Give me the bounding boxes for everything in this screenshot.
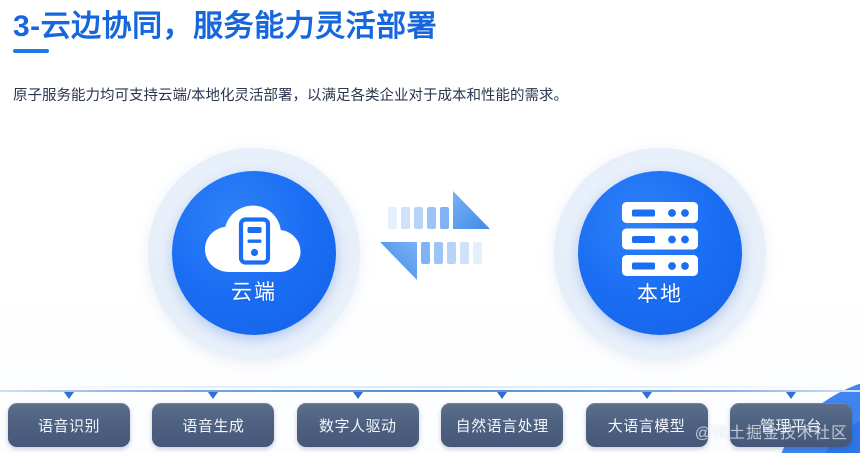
bidirectional-arrows-icon bbox=[374, 180, 496, 295]
tag-chip[interactable]: 语音生成 bbox=[152, 403, 274, 447]
tag-item-2[interactable]: 数字人驱动 bbox=[297, 392, 419, 450]
rack-server-icon bbox=[619, 200, 701, 278]
diagram-node-cloud[interactable]: 云端 bbox=[140, 140, 368, 368]
cloud-node-disc: 云端 bbox=[172, 171, 336, 335]
page-subtitle: 原子服务能力均可支持云端/本地化灵活部署，以满足各类企业对于成本和性能的需求。 bbox=[13, 85, 568, 107]
tag-chip[interactable]: 自然语言处理 bbox=[441, 403, 563, 447]
tag-item-4[interactable]: 大语言模型 bbox=[586, 392, 708, 450]
tag-item-0[interactable]: 语音识别 bbox=[8, 392, 130, 450]
tag-label: 语音生成 bbox=[182, 415, 244, 436]
local-node-label: 本地 bbox=[637, 283, 683, 307]
tag-label: 语音识别 bbox=[38, 415, 100, 436]
tag-label: 数字人驱动 bbox=[319, 415, 397, 436]
pointer-triangle-icon bbox=[353, 392, 363, 399]
pointer-triangle-icon bbox=[64, 392, 74, 399]
title-underline-accent bbox=[13, 49, 49, 53]
page-title: 3-云边协同，服务能力灵活部署 bbox=[13, 7, 437, 47]
tag-chip[interactable]: 语音识别 bbox=[8, 403, 130, 447]
tag-label: 大语言模型 bbox=[608, 415, 686, 436]
cloud-node-label: 云端 bbox=[231, 281, 277, 305]
tag-chip[interactable]: 大语言模型 bbox=[586, 403, 708, 447]
tag-item-5[interactable]: 管理平台 bbox=[730, 392, 852, 450]
rail-soft-line bbox=[0, 386, 860, 388]
capability-tag-row: 语音识别 语音生成 数字人驱动 自然语言处理 大语言模型 bbox=[8, 392, 852, 450]
pointer-triangle-icon bbox=[497, 392, 507, 399]
cloud-edge-diagram: 云端 bbox=[0, 130, 860, 385]
tag-chip[interactable]: 管理平台 bbox=[730, 403, 852, 447]
local-node-disc: 本地 bbox=[578, 171, 742, 335]
tag-item-1[interactable]: 语音生成 bbox=[152, 392, 274, 450]
slide-canvas: 3-云边协同，服务能力灵活部署 原子服务能力均可支持云端/本地化灵活部署，以满足… bbox=[0, 0, 860, 453]
tag-chip[interactable]: 数字人驱动 bbox=[297, 403, 419, 447]
cloud-server-icon bbox=[202, 202, 306, 276]
pointer-triangle-icon bbox=[786, 392, 796, 399]
tag-label: 自然语言处理 bbox=[456, 415, 549, 436]
tag-label: 管理平台 bbox=[760, 415, 822, 436]
diagram-node-local[interactable]: 本地 bbox=[546, 140, 774, 368]
pointer-triangle-icon bbox=[642, 392, 652, 399]
pointer-triangle-icon bbox=[208, 392, 218, 399]
tag-item-3[interactable]: 自然语言处理 bbox=[441, 392, 563, 450]
